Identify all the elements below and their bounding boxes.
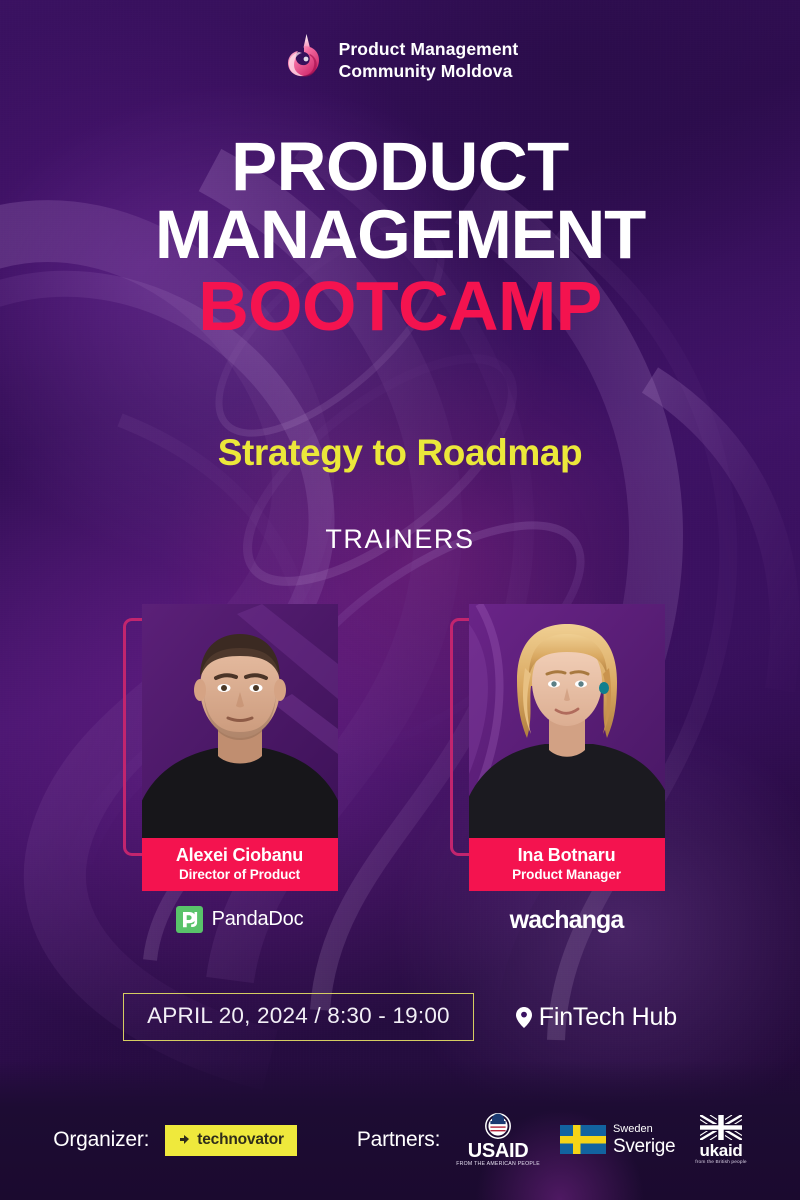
event-venue: FinTech Hub [516, 1003, 677, 1032]
event-poster: Product Management Community Moldova PRO… [0, 0, 800, 1200]
trainer-company: wachanga [469, 906, 665, 935]
trainers-list: Alexei Ciobanu Director of Product Panda… [0, 604, 800, 935]
ukaid-logo: ukaid from the British people [695, 1115, 746, 1166]
partners-block: Partners: USAID FROM THE AM [357, 1113, 747, 1167]
usaid-seal-icon [485, 1113, 511, 1140]
trainer-photo [142, 604, 338, 838]
poster-headline: PRODUCT MANAGEMENT BOOTCAMP [0, 133, 800, 341]
trainer-photo [469, 604, 665, 838]
organizer-block: Organizer: technovator [53, 1125, 297, 1156]
trainer-company: PandaDoc [142, 906, 338, 933]
pandadoc-icon [176, 906, 203, 933]
sweden-logo: Sweden Sverige [560, 1124, 675, 1156]
brand-line-2: Community Moldova [339, 60, 519, 82]
poster-subtitle: Strategy to Roadmap [0, 432, 800, 474]
alexei-ciobanu-portrait [142, 604, 338, 838]
trainer-name-badge: Alexei Ciobanu Director of Product [142, 838, 338, 891]
location-pin-icon [516, 1007, 532, 1028]
ina-botnaru-portrait [469, 604, 665, 838]
technovator-label: technovator [197, 1131, 284, 1149]
sweden-label-en: Sweden [613, 1124, 675, 1135]
technovator-arrow-icon [178, 1133, 191, 1146]
technovator-logo: technovator [165, 1125, 297, 1156]
event-venue-name: FinTech Hub [539, 1003, 677, 1032]
sweden-label-sv: Sverige [613, 1137, 675, 1156]
wachanga-wordmark: wachanga [510, 906, 624, 935]
usaid-logo: USAID FROM THE AMERICAN PEOPLE [456, 1113, 540, 1167]
brand-line-1: Product Management [339, 38, 519, 60]
ukaid-wordmark: ukaid [700, 1142, 743, 1159]
headline-line-3: BOOTCAMP [0, 272, 800, 341]
partner-logos: USAID FROM THE AMERICAN PEOPLE Sweden Sv… [456, 1113, 747, 1167]
trainer-role: Product Manager [473, 867, 661, 882]
trainer-role: Director of Product [146, 867, 334, 882]
usaid-tagline: FROM THE AMERICAN PEOPLE [456, 1162, 540, 1167]
trainers-section-label: TRAINERS [0, 524, 800, 555]
union-jack-icon [700, 1115, 742, 1140]
unicorn-icon [282, 32, 328, 88]
trainer-name: Alexei Ciobanu [146, 845, 334, 866]
trainer-card: Ina Botnaru Product Manager wachanga [459, 604, 669, 935]
partners-label: Partners: [357, 1128, 440, 1152]
ukaid-tagline: from the British people [695, 1161, 746, 1166]
swedish-flag-icon [560, 1125, 606, 1154]
trainer-name-badge: Ina Botnaru Product Manager [469, 838, 665, 891]
event-datetime: APRIL 20, 2024 / 8:30 - 19:00 [123, 993, 474, 1041]
brand-lockup: Product Management Community Moldova [0, 32, 800, 88]
trainer-company-name: PandaDoc [212, 908, 304, 931]
trainer-card: Alexei Ciobanu Director of Product Panda… [132, 604, 342, 935]
trainer-name: Ina Botnaru [473, 845, 661, 866]
headline-line-1: PRODUCT [0, 133, 800, 201]
poster-footer: Organizer: technovator Partners: [0, 1080, 800, 1200]
organizer-label: Organizer: [53, 1128, 149, 1152]
brand-text: Product Management Community Moldova [339, 38, 519, 83]
headline-line-2: MANAGEMENT [0, 201, 800, 269]
event-meta: APRIL 20, 2024 / 8:30 - 19:00 FinTech Hu… [0, 993, 800, 1041]
usaid-wordmark: USAID [468, 1141, 529, 1161]
sweden-wordmark: Sweden Sverige [613, 1124, 675, 1156]
